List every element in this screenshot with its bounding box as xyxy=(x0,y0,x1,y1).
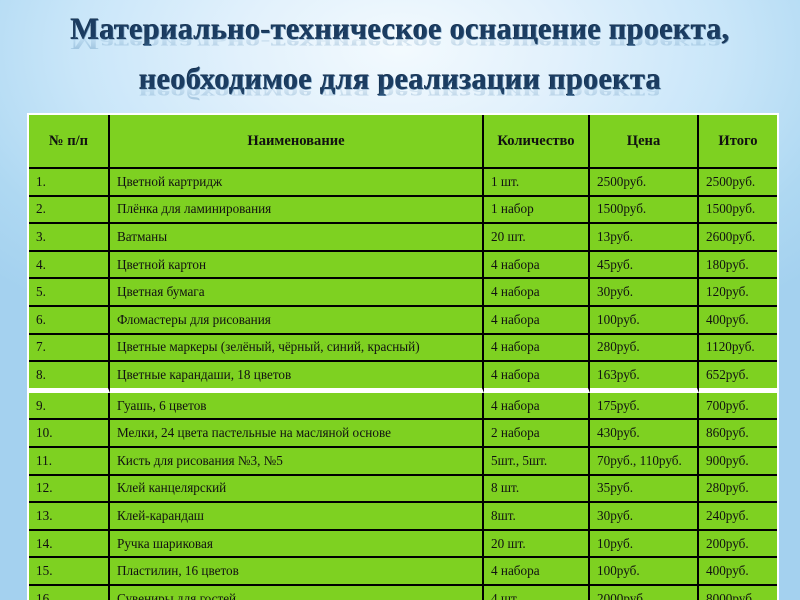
cell-price: 100руб. xyxy=(590,558,699,586)
cell-name: Цветные карандаши, 18 цветов xyxy=(110,362,484,393)
cell-total: 8000руб. xyxy=(699,586,777,600)
cell-name: Мелки, 24 цвета пастельные на масляной о… xyxy=(110,420,484,448)
cell-quantity: 2 набора xyxy=(484,420,590,448)
cell-quantity: 4 набора xyxy=(484,558,590,586)
cell-name: Клей-карандаш xyxy=(110,503,484,531)
table-row: 11. Кисть для рисования №3, №5 5шт., 5шт… xyxy=(29,448,777,476)
cell-quantity: 1 шт. xyxy=(484,169,590,197)
title-line-2: необходимое для реализации проекта xyxy=(0,64,800,95)
cell-total: 280руб. xyxy=(699,476,777,504)
cell-name: Цветная бумага xyxy=(110,279,484,307)
table-row: 2. Плёнка для ламинирования 1 набор 1500… xyxy=(29,197,777,225)
cell-num: 7. xyxy=(29,335,110,363)
cell-name: Ручка шариковая xyxy=(110,531,484,559)
cell-price: 100руб. xyxy=(590,307,699,335)
cell-quantity: 4 набора xyxy=(484,279,590,307)
table-row: 14. Ручка шариковая 20 шт. 10руб. 200руб… xyxy=(29,531,777,559)
column-header-price: Цена xyxy=(590,115,699,169)
cell-total: 700руб. xyxy=(699,393,777,421)
cell-price: 35руб. xyxy=(590,476,699,504)
cell-num: 15. xyxy=(29,558,110,586)
cell-price: 430руб. xyxy=(590,420,699,448)
cell-num: 10. xyxy=(29,420,110,448)
cell-total: 240руб. xyxy=(699,503,777,531)
cell-name: Гуашь, 6 цветов xyxy=(110,393,484,421)
title-line-2-wrap: необходимое для реализации проекта необх… xyxy=(0,64,800,102)
table-row: 6. Фломастеры для рисования 4 набора 100… xyxy=(29,307,777,335)
cell-quantity: 4 набора xyxy=(484,362,590,393)
cell-price: 13руб. xyxy=(590,224,699,252)
cell-name: Плёнка для ламинирования xyxy=(110,197,484,225)
table-header-row: № п/п Наименование Количество Цена Итого xyxy=(29,115,777,169)
table-row: 13. Клей-карандаш 8шт. 30руб. 240руб. xyxy=(29,503,777,531)
cell-total: 120руб. xyxy=(699,279,777,307)
cell-name: Сувениры для гостей xyxy=(110,586,484,600)
cell-num: 4. xyxy=(29,252,110,280)
cell-quantity: 4 набора xyxy=(484,252,590,280)
cell-name: Цветной картридж xyxy=(110,169,484,197)
cell-name: Кисть для рисования №3, №5 xyxy=(110,448,484,476)
cell-total: 200руб. xyxy=(699,531,777,559)
cell-quantity: 5шт., 5шт. xyxy=(484,448,590,476)
table-row: 8. Цветные карандаши, 18 цветов 4 набора… xyxy=(29,362,777,393)
cell-price: 175руб. xyxy=(590,393,699,421)
cell-total: 2600руб. xyxy=(699,224,777,252)
cell-num: 16. xyxy=(29,586,110,600)
cell-name: Пластилин, 16 цветов xyxy=(110,558,484,586)
cell-quantity: 20 шт. xyxy=(484,531,590,559)
cell-num: 2. xyxy=(29,197,110,225)
cell-quantity: 8 шт. xyxy=(484,476,590,504)
cell-num: 1. xyxy=(29,169,110,197)
cell-num: 6. xyxy=(29,307,110,335)
cell-quantity: 4 шт. xyxy=(484,586,590,600)
cell-price: 10руб. xyxy=(590,531,699,559)
table-row: 7. Цветные маркеры (зелёный, чёрный, син… xyxy=(29,335,777,363)
cell-quantity: 4 набора xyxy=(484,335,590,363)
cell-num: 9. xyxy=(29,393,110,421)
cell-total: 860руб. xyxy=(699,420,777,448)
cell-total: 1500руб. xyxy=(699,197,777,225)
cell-total: 652руб. xyxy=(699,362,777,393)
cell-num: 8. xyxy=(29,362,110,393)
cell-name: Ватманы xyxy=(110,224,484,252)
table-row: 12. Клей канцелярский 8 шт. 35руб. 280ру… xyxy=(29,476,777,504)
cell-total: 900руб. xyxy=(699,448,777,476)
column-header-quantity: Количество xyxy=(484,115,590,169)
cell-price: 163руб. xyxy=(590,362,699,393)
cell-num: 12. xyxy=(29,476,110,504)
cell-quantity: 4 набора xyxy=(484,393,590,421)
cell-price: 30руб. xyxy=(590,503,699,531)
cell-name: Цветные маркеры (зелёный, чёрный, синий,… xyxy=(110,335,484,363)
table-row: 10. Мелки, 24 цвета пастельные на маслян… xyxy=(29,420,777,448)
equipment-table-frame: № п/п Наименование Количество Цена Итого… xyxy=(27,113,779,600)
cell-total: 2500руб. xyxy=(699,169,777,197)
cell-total: 1120руб. xyxy=(699,335,777,363)
cell-price: 70руб., 110руб. xyxy=(590,448,699,476)
table-row: 3. Ватманы 20 шт. 13руб. 2600руб. xyxy=(29,224,777,252)
cell-quantity: 1 набор xyxy=(484,197,590,225)
cell-price: 30руб. xyxy=(590,279,699,307)
cell-price: 45руб. xyxy=(590,252,699,280)
cell-name: Клей канцелярский xyxy=(110,476,484,504)
table-row: 16. Сувениры для гостей 4 шт. 2000руб. 8… xyxy=(29,586,777,600)
cell-total: 400руб. xyxy=(699,307,777,335)
cell-quantity: 20 шт. xyxy=(484,224,590,252)
cell-total: 400руб. xyxy=(699,558,777,586)
title-line-1: Материально-техническое оснащение проект… xyxy=(0,14,800,45)
cell-price: 1500руб. xyxy=(590,197,699,225)
table-row: 9. Гуашь, 6 цветов 4 набора 175руб. 700р… xyxy=(29,393,777,421)
cell-price: 2000руб. xyxy=(590,586,699,600)
cell-price: 2500руб. xyxy=(590,169,699,197)
cell-num: 13. xyxy=(29,503,110,531)
cell-num: 3. xyxy=(29,224,110,252)
cell-quantity: 8шт. xyxy=(484,503,590,531)
table-row: 5. Цветная бумага 4 набора 30руб. 120руб… xyxy=(29,279,777,307)
title-line-1-wrap: Материально-техническое оснащение проект… xyxy=(0,14,800,52)
equipment-table: № п/п Наименование Количество Цена Итого… xyxy=(29,115,777,600)
column-header-name: Наименование xyxy=(110,115,484,169)
table-row: 4. Цветной картон 4 набора 45руб. 180руб… xyxy=(29,252,777,280)
table-row: 1. Цветной картридж 1 шт. 2500руб. 2500р… xyxy=(29,169,777,197)
column-header-num: № п/п xyxy=(29,115,110,169)
cell-price: 280руб. xyxy=(590,335,699,363)
slide-canvas: Материально-техническое оснащение проект… xyxy=(0,0,800,600)
cell-total: 180руб. xyxy=(699,252,777,280)
table-row: 15. Пластилин, 16 цветов 4 набора 100руб… xyxy=(29,558,777,586)
cell-num: 11. xyxy=(29,448,110,476)
cell-quantity: 4 набора xyxy=(484,307,590,335)
cell-name: Цветной картон xyxy=(110,252,484,280)
cell-name: Фломастеры для рисования xyxy=(110,307,484,335)
slide-title: Материально-техническое оснащение проект… xyxy=(0,14,800,102)
cell-num: 14. xyxy=(29,531,110,559)
column-header-total: Итого xyxy=(699,115,777,169)
cell-num: 5. xyxy=(29,279,110,307)
